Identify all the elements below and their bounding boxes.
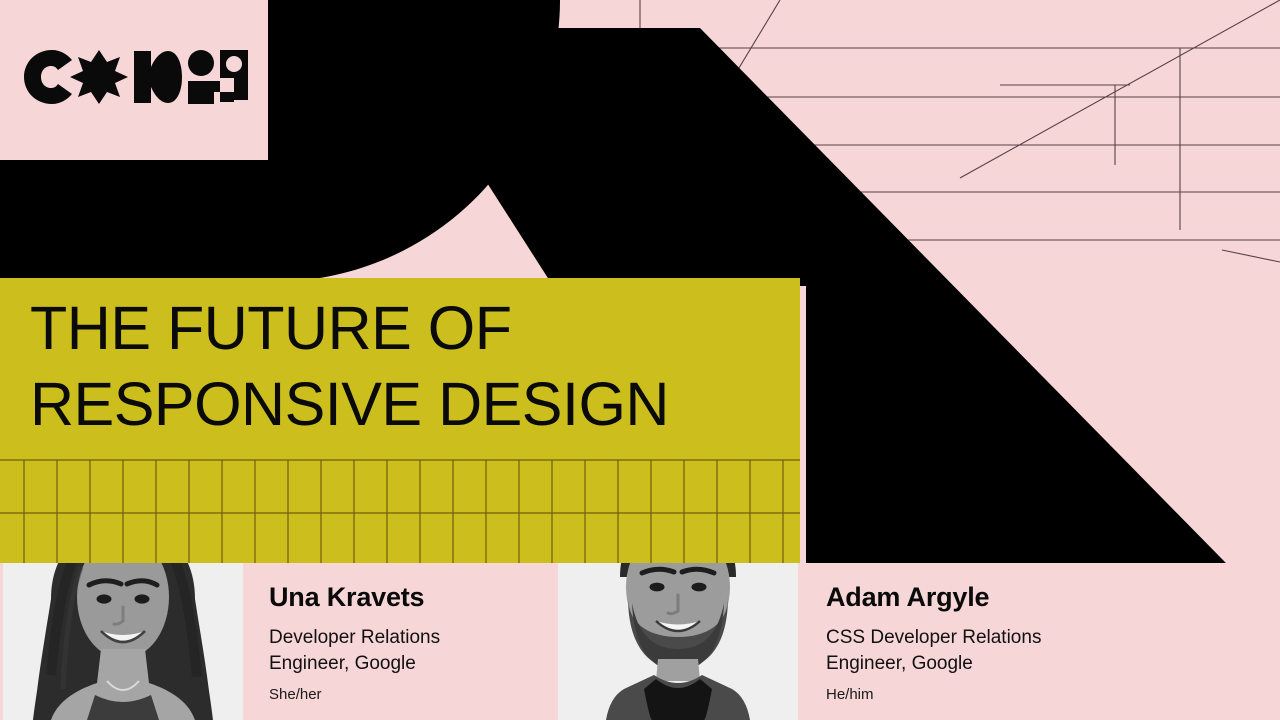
speaker-info: Una Kravets Developer Relations Engineer…: [243, 563, 558, 720]
avatar: [3, 563, 243, 720]
speaker-headshot-icon: [558, 563, 798, 720]
speaker-role: Developer Relations Engineer, Google: [269, 625, 440, 677]
speakers-strip: Una Kravets Developer Relations Engineer…: [0, 563, 1280, 720]
speaker-card: Una Kravets Developer Relations Engineer…: [0, 563, 558, 720]
config-wordmark-logo-icon: [22, 48, 250, 106]
speaker-headshot-icon: [3, 563, 243, 720]
avatar: [558, 563, 798, 720]
config-logo-plate: [0, 0, 268, 160]
speaker-card: Adam Argyle CSS Developer Relations Engi…: [558, 563, 1280, 720]
page-title: THE FUTURE OF RESPONSIVE DESIGN: [30, 290, 790, 442]
speaker-name: Adam Argyle: [826, 582, 989, 613]
speaker-role: CSS Developer Relations Engineer, Google: [826, 625, 1041, 677]
talk-title-block: THE FUTURE OF RESPONSIVE DESIGN: [0, 278, 800, 563]
presentation-slide: THE FUTURE OF RESPONSIVE DESIGN: [0, 0, 1280, 720]
speaker-pronouns: He/him: [826, 686, 874, 703]
speaker-info: Adam Argyle CSS Developer Relations Engi…: [798, 563, 1280, 720]
speaker-pronouns: She/her: [269, 686, 322, 703]
speaker-name: Una Kravets: [269, 582, 424, 613]
